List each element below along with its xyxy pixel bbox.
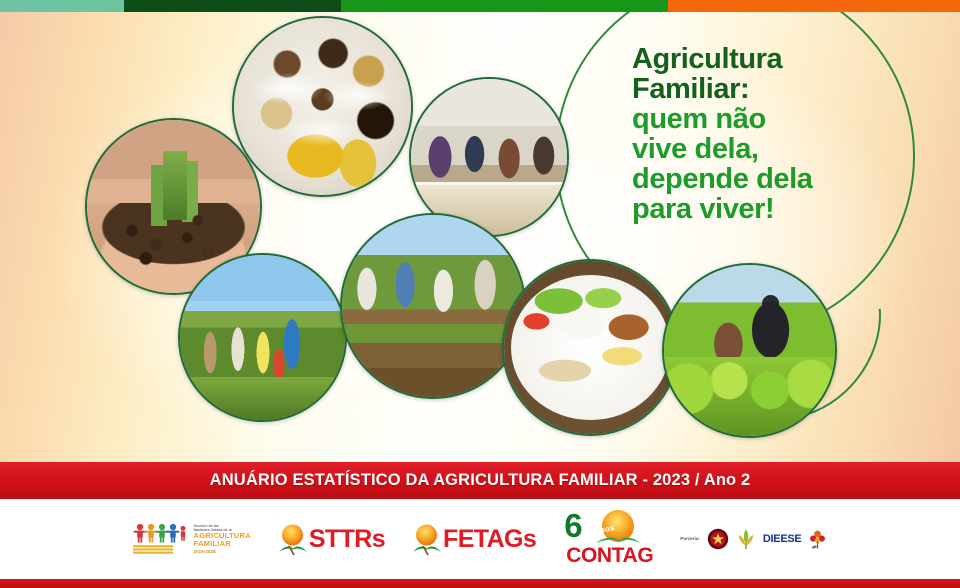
photo-harvest-image: [342, 215, 524, 397]
headline-line-2: Familiar:: [632, 74, 932, 104]
headline-line-4: vive dela,: [632, 134, 932, 164]
logo-un-decade-family-farming: Decenio de las Naciones Unidas de la AGR…: [133, 522, 251, 556]
photo-meal-plate: [502, 259, 679, 436]
topbar-segment-teal: [0, 0, 124, 12]
poster-canvas: Agricultura Familiar: quem não vive dela…: [0, 0, 960, 588]
partner-leaf-logo-icon: [736, 527, 756, 551]
partner-seal-red-icon: [707, 528, 729, 550]
headline-line-3: quem não: [632, 104, 932, 134]
photo-lettuce-image: [664, 265, 835, 436]
sun-and-leaves-icon: [277, 522, 308, 556]
partner-flower-logo-icon: [808, 528, 827, 550]
photo-market-image: [411, 79, 567, 235]
headline-line-6: para viver!: [632, 194, 932, 224]
partner-logos: Parceria: DIEESE: [680, 527, 827, 551]
un-logo-text: Decenio de las Naciones Unidas de la AGR…: [194, 524, 251, 554]
topbar-segment-orange: [668, 0, 960, 12]
top-color-bar: [0, 0, 960, 12]
title-banner: ANUÁRIO ESTATÍSTICO DA AGRICULTURA FAMIL…: [0, 462, 960, 499]
topbar-segment-dark-green: [124, 0, 341, 12]
photo-lettuce-harvest: [662, 263, 837, 438]
topbar-segment-green: [341, 0, 668, 12]
logo-contag: 6 anos CONTAG: [562, 511, 654, 567]
contag-number-60: 6: [564, 509, 582, 542]
partners-label: Parceria:: [680, 536, 700, 542]
un-logo-line-4: FAMILIAR: [194, 540, 251, 549]
contag-label: CONTAG: [566, 544, 653, 568]
sun-and-leaves-icon: [411, 522, 442, 556]
photo-family-image: [180, 255, 345, 420]
photo-farm-family: [178, 253, 347, 422]
fetags-label: FETAGs: [443, 525, 536, 554]
logo-sttrs: STTRs: [277, 522, 385, 556]
photo-seeds-image: [234, 18, 411, 195]
un-logo-line-5: 2019-2028: [194, 549, 251, 554]
footer-red-rule: [0, 579, 960, 588]
headline: Agricultura Familiar: quem não vive dela…: [632, 44, 932, 224]
headline-line-5: depende dela: [632, 164, 932, 194]
sttrs-label: STTRs: [309, 525, 385, 554]
photo-plate-image: [504, 261, 677, 434]
un-people-icon: [133, 522, 189, 556]
banner-title-text: ANUÁRIO ESTATÍSTICO DA AGRICULTURA FAMIL…: [210, 471, 751, 490]
footer-logo-strip: Decenio de las Naciones Unidas de la AGR…: [0, 499, 960, 588]
headline-line-1: Agricultura: [632, 44, 932, 74]
logo-fetags: FETAGs: [411, 522, 536, 556]
partner-dieese-label: DIEESE: [763, 533, 802, 545]
photo-field-workers: [340, 213, 526, 399]
